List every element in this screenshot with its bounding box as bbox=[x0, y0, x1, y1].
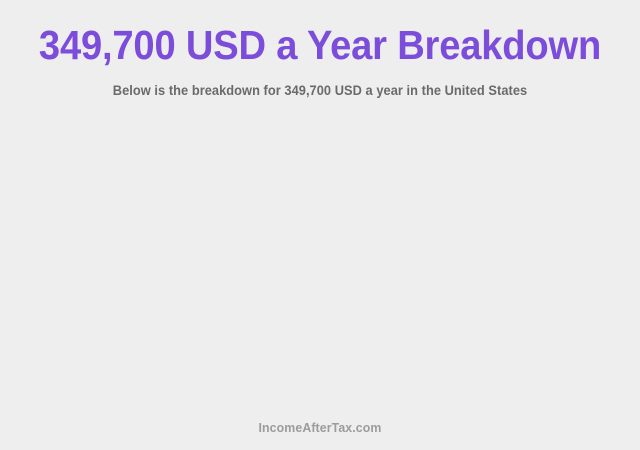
chart-region bbox=[0, 99, 640, 420]
income-breakdown-page: 349,700 USD a Year Breakdown Below is th… bbox=[0, 0, 640, 450]
page-title: 349,700 USD a Year Breakdown bbox=[22, 22, 617, 68]
site-watermark: IncomeAfterTax.com bbox=[16, 420, 624, 435]
page-footer: IncomeAfterTax.com bbox=[0, 420, 640, 450]
page-subtitle: Below is the breakdown for 349,700 USD a… bbox=[16, 83, 624, 99]
chart-plot-area bbox=[0, 99, 640, 420]
page-header: 349,700 USD a Year Breakdown Below is th… bbox=[0, 0, 640, 99]
